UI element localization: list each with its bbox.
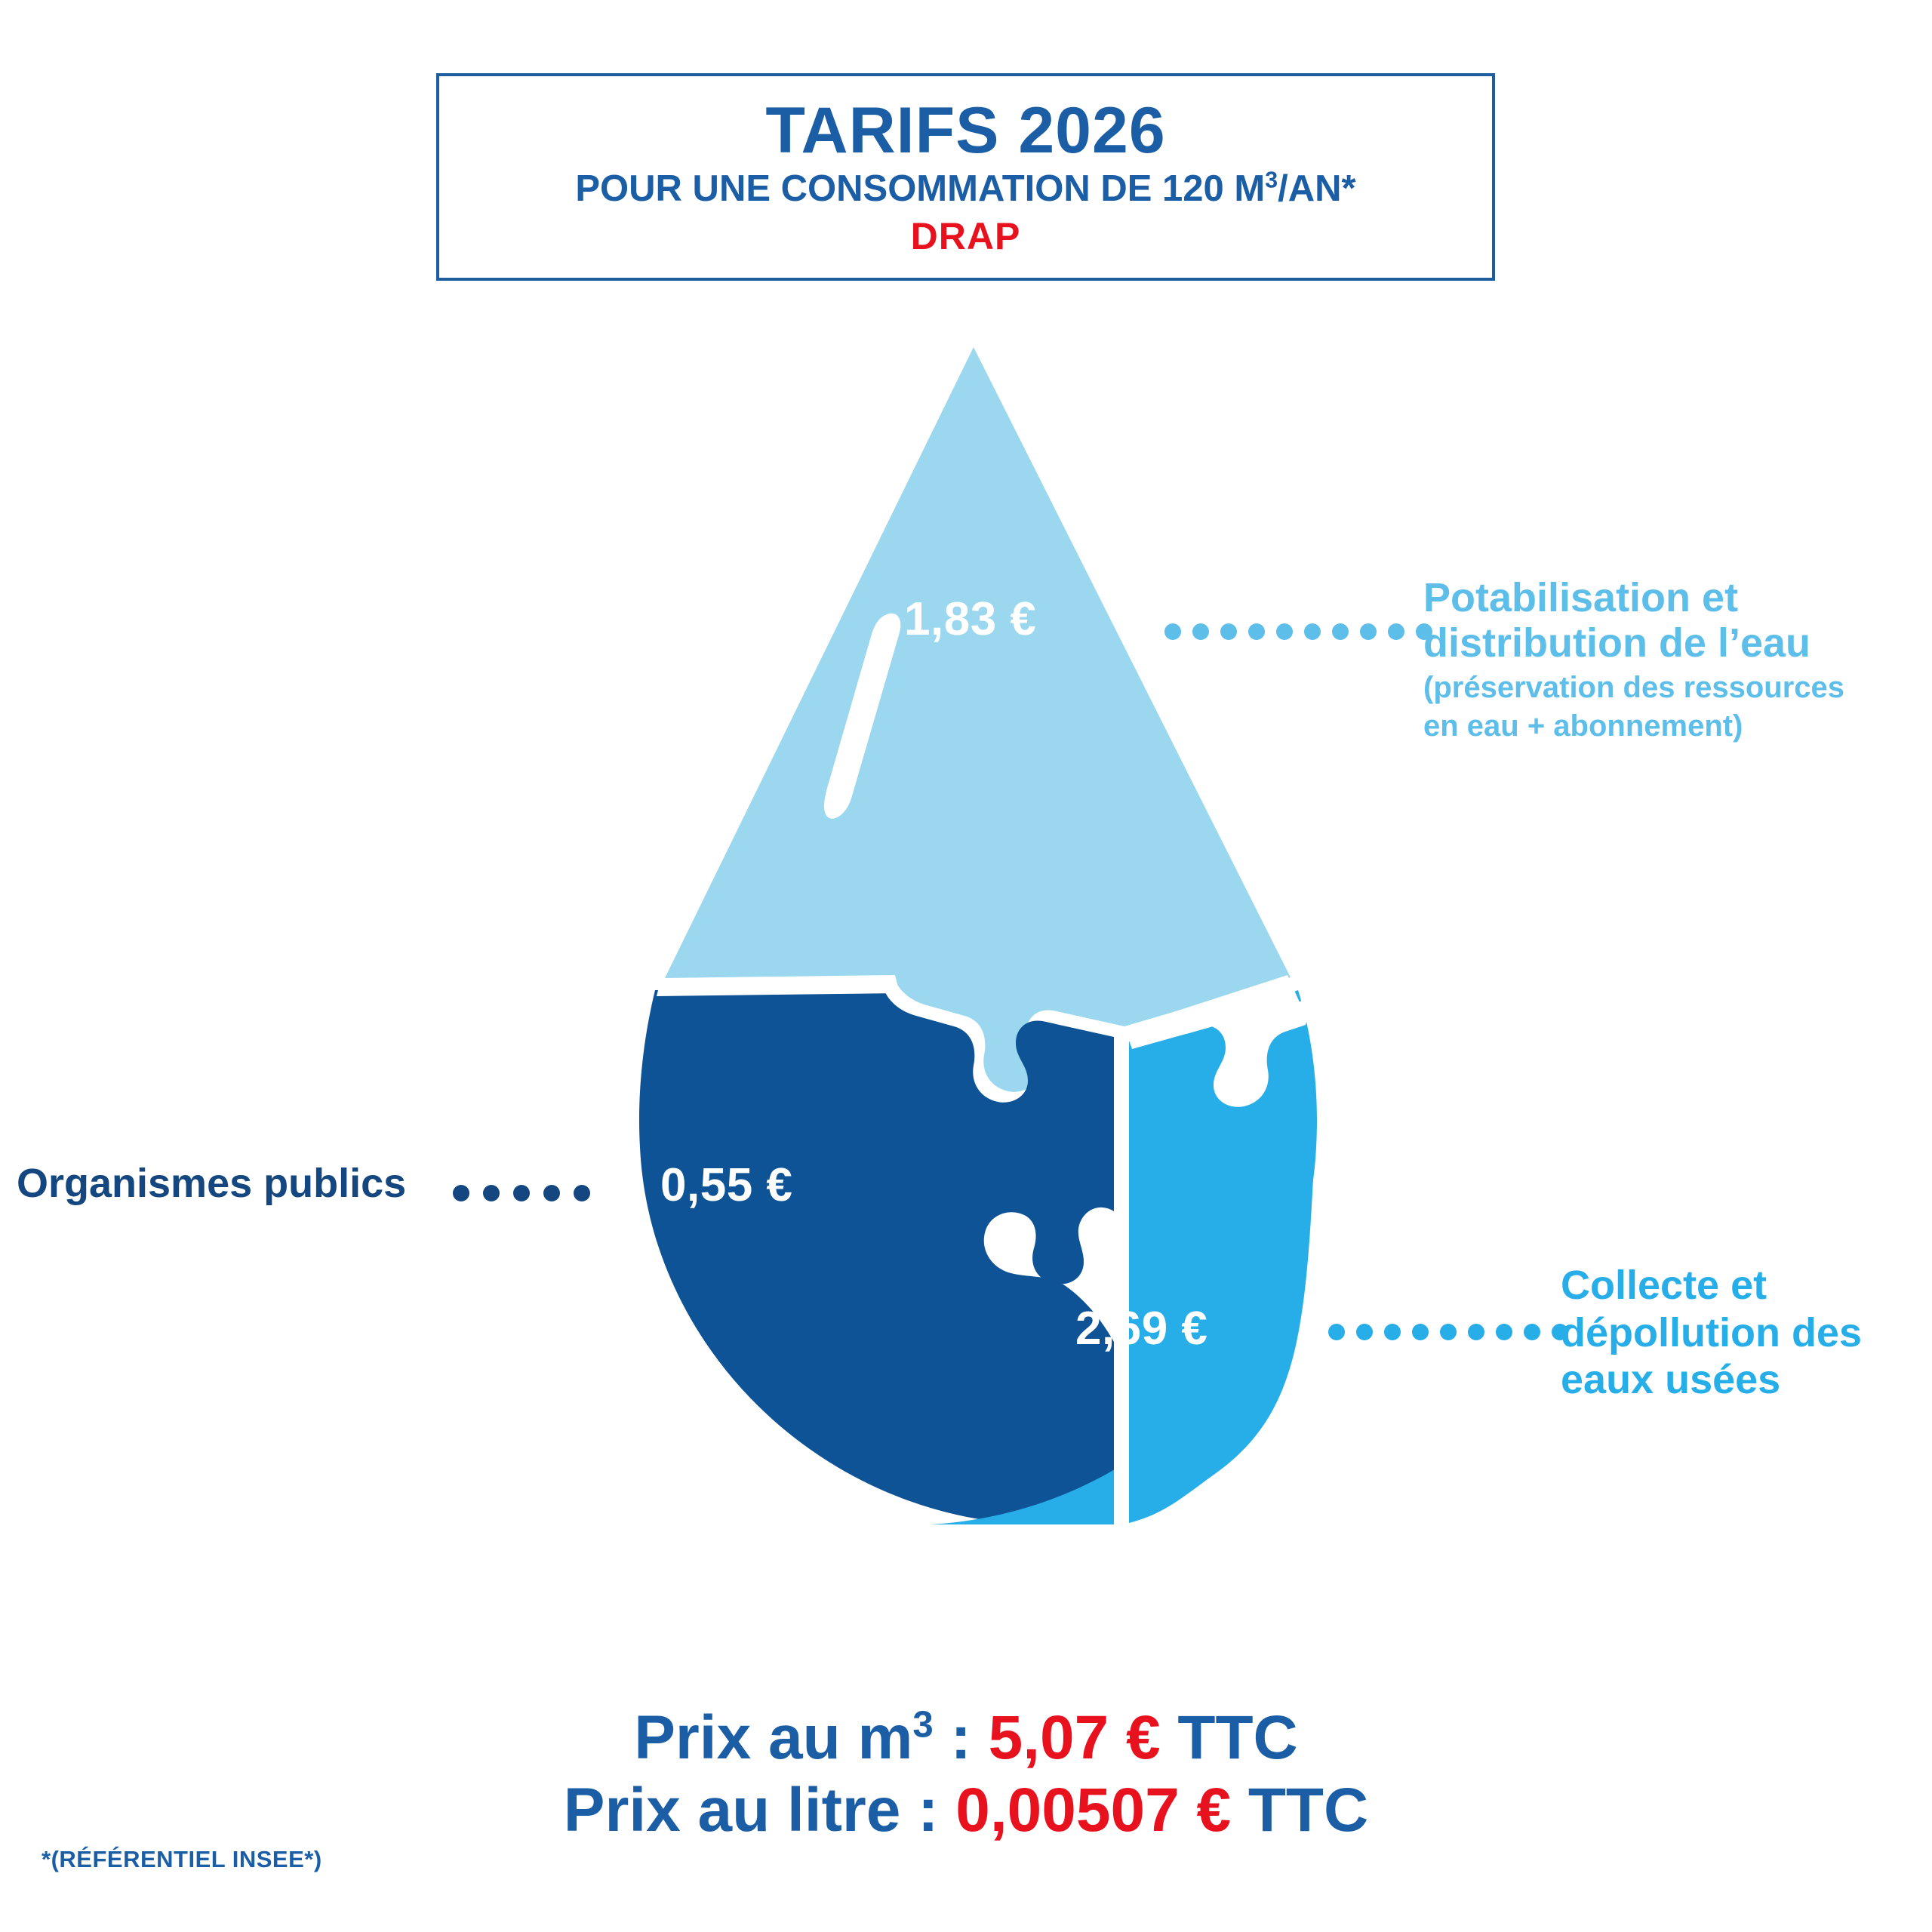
legend-potabilisation-sub1: (préservation des ressources (1423, 671, 1906, 705)
subtitle-text-after: /AN* (1278, 168, 1355, 209)
value-label-organismes: 0,55 € (660, 1158, 792, 1212)
legend-collecte-line2: dépollution des (1561, 1309, 1915, 1357)
price-summary: Prix au m3 : 5,07 € TTC Prix au litre : … (0, 1702, 1932, 1847)
drop-piece-organismes[interactable] (639, 987, 1114, 1524)
drop-top-gap-left (657, 975, 900, 996)
drop-svg (528, 347, 1419, 1570)
value-label-collecte: 2,69 € (1075, 1302, 1207, 1355)
price-per-litre-suffix: TTC (1231, 1776, 1368, 1844)
value-label-potabilisation: 1,83 € (904, 592, 1036, 646)
legend-potabilisation-line1: Potabilisation et (1423, 575, 1906, 620)
subtitle-text-before: POUR UNE CONSOMMATION DE 120 M (575, 168, 1265, 209)
city-name: DRAP (911, 217, 1021, 257)
price-per-m3-separator: : (934, 1703, 989, 1772)
price-per-m3-line: Prix au m3 : 5,07 € TTC (0, 1702, 1932, 1774)
leader-dots-potabilisation (1164, 623, 1444, 640)
price-per-m3-value: 5,07 € (989, 1703, 1161, 1772)
leader-dots-collecte (1328, 1324, 1580, 1340)
price-per-litre-value: 0,00507 € (955, 1776, 1231, 1844)
price-per-m3-prefix: Prix au m (634, 1703, 912, 1772)
legend-potabilisation-sub2: en eau + abonnement) (1423, 709, 1906, 743)
price-per-m3-suffix: TTC (1161, 1703, 1298, 1772)
price-per-m3-superscript: 3 (912, 1704, 933, 1746)
page-title: TARIFS 2026 (765, 98, 1165, 165)
subtitle-superscript: 3 (1265, 168, 1278, 193)
page-subtitle: POUR UNE CONSOMMATION DE 120 M3/AN* (575, 170, 1355, 208)
legend-label-potabilisation: Potabilisation et distribution de l’eau … (1423, 575, 1906, 743)
legend-label-collecte: Collecte et dépollution des eaux usées (1561, 1262, 1915, 1404)
price-per-litre-line: Prix au litre : 0,00507 € TTC (0, 1774, 1932, 1847)
legend-potabilisation-line2: distribution de l’eau (1423, 620, 1906, 666)
header-title-box: TARIFS 2026 POUR UNE CONSOMMATION DE 120… (436, 73, 1495, 281)
legend-label-organismes: Organismes publics (17, 1160, 439, 1207)
leader-dots-organismes (453, 1185, 604, 1201)
water-drop-puzzle-chart (528, 347, 1419, 1570)
footnote-insee: *(RÉFÉRENTIEL INSEE*) (42, 1846, 322, 1873)
legend-collecte-line1: Collecte et (1561, 1262, 1915, 1309)
legend-collecte-line3: eaux usées (1561, 1356, 1915, 1404)
drop-center-gap (1114, 1026, 1129, 1528)
price-per-litre-prefix: Prix au litre : (564, 1776, 956, 1844)
